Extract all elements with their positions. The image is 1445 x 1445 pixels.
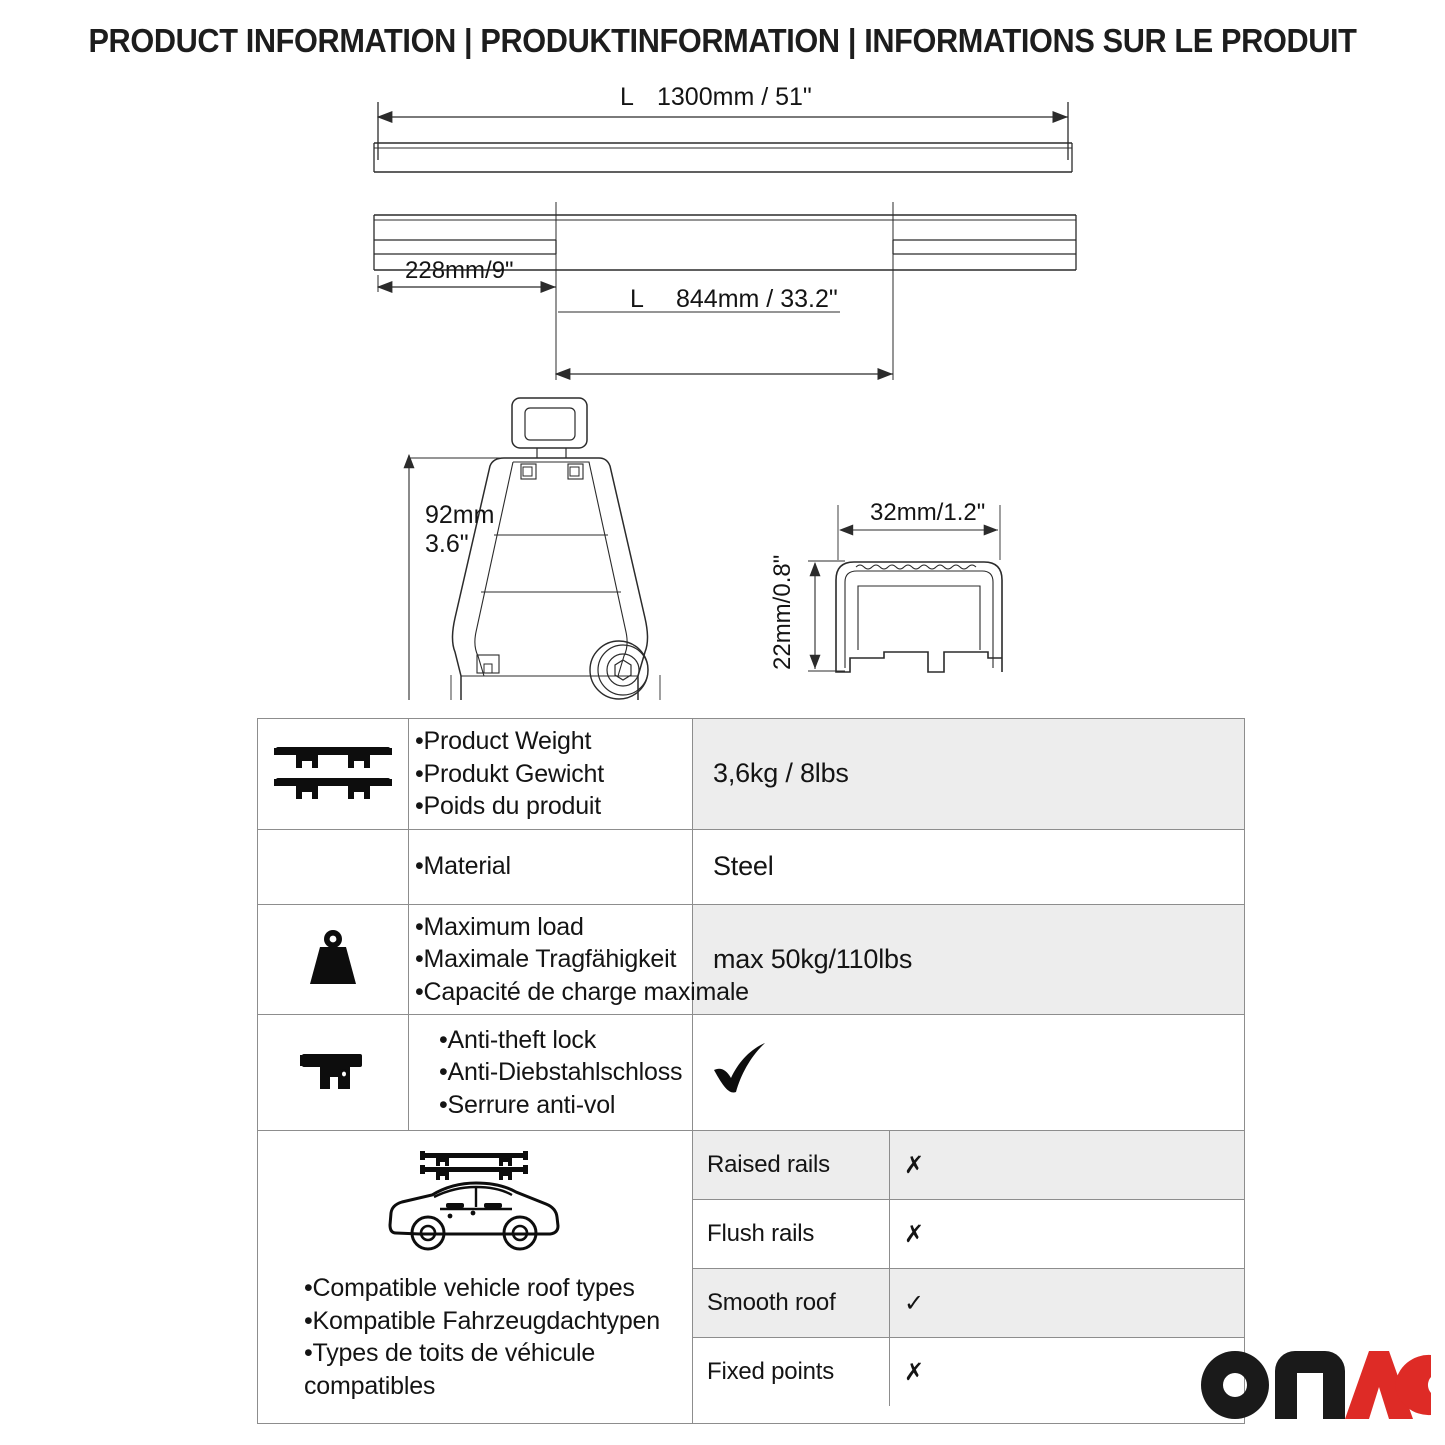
value-text: max 50kg/110lbs xyxy=(693,944,1244,975)
dim-bar-length-value: 1300mm / 51" xyxy=(657,83,812,111)
label-line: •Serrure anti-vol xyxy=(439,1089,688,1122)
row-icon-cell xyxy=(258,1015,409,1131)
dim-bar-length-prefix: L xyxy=(620,83,634,111)
omac-logo xyxy=(1199,1349,1431,1421)
roof-option-mark: ✗ xyxy=(890,1338,1245,1407)
label-line: •Product Weight xyxy=(415,725,688,758)
dim-foot-height-mm: 92mm xyxy=(425,501,494,529)
label-line: •Anti-Diebstahlschloss xyxy=(439,1056,688,1089)
product-information-page: PRODUCT INFORMATION | PRODUKTINFORMATION… xyxy=(0,0,1445,1445)
two-crossbars-icon xyxy=(258,743,408,805)
row-label-cell: •Maximum load •Maximale Tragfähigkeit •C… xyxy=(409,904,693,1015)
table-row-roof-types: •Compatible vehicle roof types •Kompatib… xyxy=(258,1131,1245,1424)
weight-icon xyxy=(258,928,408,990)
dim-rail-span-prefix: L xyxy=(630,285,644,313)
dim-end-offset: 228mm/9" xyxy=(405,257,514,284)
roof-types-label-cell: •Compatible vehicle roof types •Kompatib… xyxy=(258,1131,693,1424)
table-row: •Material Steel xyxy=(258,829,1245,904)
label-list: •Compatible vehicle roof types •Kompatib… xyxy=(258,1264,692,1408)
label-line: •Maximale Tragfähigkeit xyxy=(415,943,688,976)
table-row: •Maximum load •Maximale Tragfähigkeit •C… xyxy=(258,904,1245,1015)
row-value-cell xyxy=(693,1015,1245,1131)
dim-profile-height: 22mm/0.8" xyxy=(769,555,796,670)
table-row: •Product Weight •Produkt Gewicht •Poids … xyxy=(258,719,1245,830)
dim-profile-width: 32mm/1.2" xyxy=(870,499,985,526)
label-list: •Maximum load •Maximale Tragfähigkeit •C… xyxy=(409,905,692,1015)
row-label-cell: •Material xyxy=(409,829,693,904)
logo-letter-o xyxy=(1201,1351,1269,1419)
roof-option-row[interactable]: Fixed points ✗ xyxy=(693,1338,1244,1407)
dim-rail-span-value: 844mm / 33.2" xyxy=(676,285,838,313)
page-title: PRODUCT INFORMATION | PRODUKTINFORMATION… xyxy=(51,22,1395,60)
roof-types-table: Raised rails ✗ Flush rails ✗ Smooth roof… xyxy=(693,1131,1244,1406)
roof-option-row[interactable]: Smooth roof ✓ xyxy=(693,1269,1244,1338)
label-line: •Capacité de charge maximale xyxy=(415,976,688,1009)
label-line: compatibles xyxy=(304,1370,688,1403)
row-icon-cell xyxy=(258,904,409,1015)
technical-drawing: L 1300mm / 51" 228mm/9" L 844mm / 33.2" … xyxy=(0,80,1445,700)
row-label-cell: •Product Weight •Produkt Gewicht •Poids … xyxy=(409,719,693,830)
label-line: •Poids du produit xyxy=(415,790,688,823)
row-icon-cell xyxy=(258,719,409,830)
checkmark-icon xyxy=(693,1042,1244,1104)
table-row: •Anti-theft lock •Anti-Diebstahlschloss … xyxy=(258,1015,1245,1131)
row-value-cell: 3,6kg / 8lbs xyxy=(693,719,1245,830)
label-line: •Produkt Gewicht xyxy=(415,758,688,791)
roof-option-mark: ✗ xyxy=(890,1131,1245,1200)
lock-bar-icon xyxy=(258,1048,408,1098)
row-icon-cell xyxy=(258,829,409,904)
roof-option-name: Fixed points xyxy=(693,1338,890,1407)
roof-option-mark: ✓ xyxy=(890,1269,1245,1338)
dim-foot-height-in: 3.6" xyxy=(425,530,469,558)
label-line: •Kompatible Fahrzeugdachtypen xyxy=(304,1305,688,1338)
logo-letter-m xyxy=(1275,1351,1345,1419)
value-text: 3,6kg / 8lbs xyxy=(693,758,1244,789)
specification-table: •Product Weight •Produkt Gewicht •Poids … xyxy=(257,718,1245,1424)
roof-option-name: Raised rails xyxy=(693,1131,890,1200)
roof-option-row[interactable]: Flush rails ✗ xyxy=(693,1200,1244,1269)
value-text: Steel xyxy=(693,851,1244,882)
row-label-cell: •Anti-theft lock •Anti-Diebstahlschloss … xyxy=(409,1015,693,1131)
label-list: •Anti-theft lock •Anti-Diebstahlschloss … xyxy=(409,1018,692,1128)
label-list: •Material xyxy=(409,844,692,889)
row-value-cell: Steel xyxy=(693,829,1245,904)
label-line: •Maximum load xyxy=(415,911,688,944)
label-line: •Types de toits de véhicule xyxy=(304,1337,688,1370)
label-list: •Product Weight •Produkt Gewicht •Poids … xyxy=(409,719,692,829)
roof-options-cell: Raised rails ✗ Flush rails ✗ Smooth roof… xyxy=(693,1131,1245,1424)
label-line: •Compatible vehicle roof types xyxy=(304,1272,688,1305)
roof-option-row[interactable]: Raised rails ✗ xyxy=(693,1131,1244,1200)
label-line: •Anti-theft lock xyxy=(439,1024,688,1057)
roof-option-name: Flush rails xyxy=(693,1200,890,1269)
roof-option-name: Smooth roof xyxy=(693,1269,890,1338)
label-line: •Material xyxy=(415,850,688,883)
row-value-cell: max 50kg/110lbs xyxy=(693,904,1245,1015)
car-with-roofrack-icon xyxy=(258,1131,692,1264)
roof-option-mark: ✗ xyxy=(890,1200,1245,1269)
